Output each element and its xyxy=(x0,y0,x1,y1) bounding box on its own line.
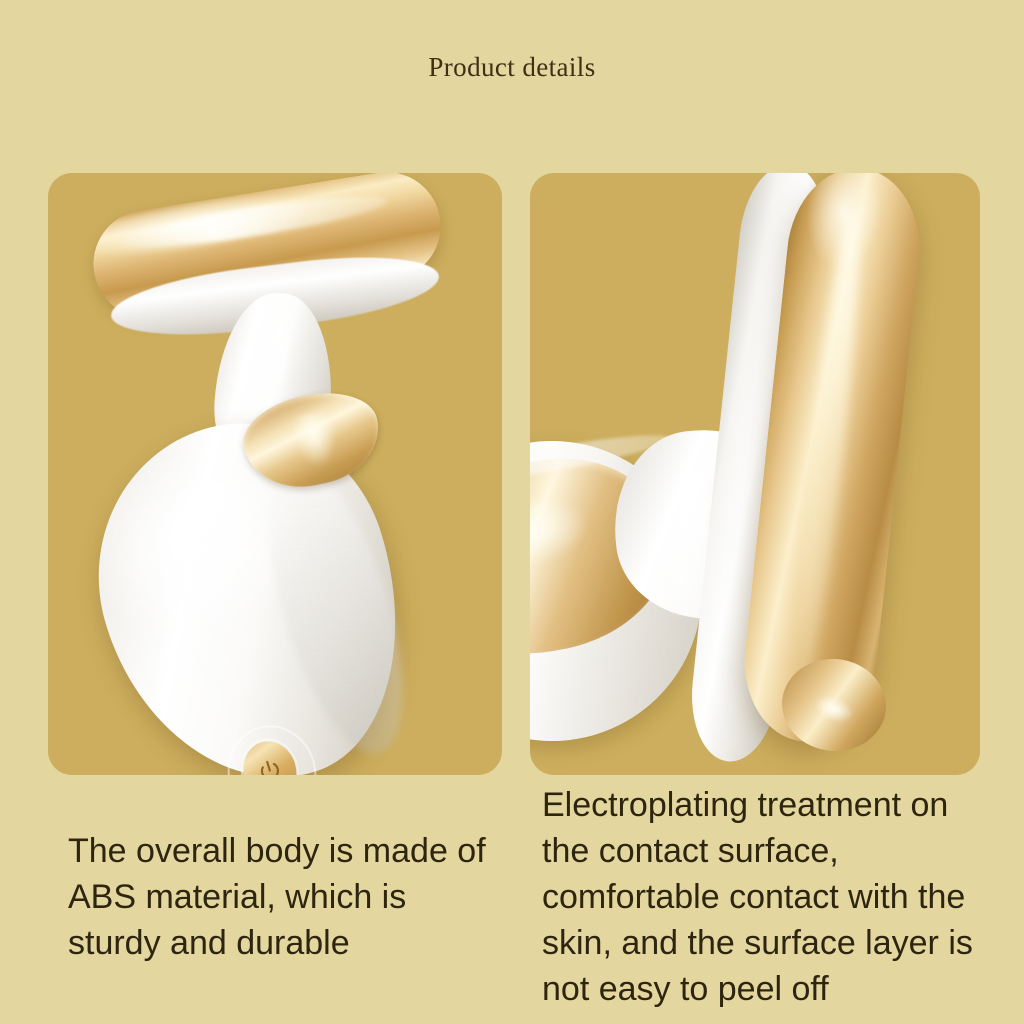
power-icon xyxy=(256,756,284,775)
product-image-panel-left xyxy=(48,173,502,775)
product-image-panel-right xyxy=(530,173,980,775)
caption-right: Electroplating treatment on the contact … xyxy=(542,782,992,1012)
product-details-page: Product details xyxy=(0,0,1024,1024)
product-photo-full-device xyxy=(48,173,502,775)
product-photo-closeup xyxy=(530,173,980,775)
caption-left: The overall body is made of ABS material… xyxy=(68,828,508,966)
page-title: Product details xyxy=(0,52,1024,83)
